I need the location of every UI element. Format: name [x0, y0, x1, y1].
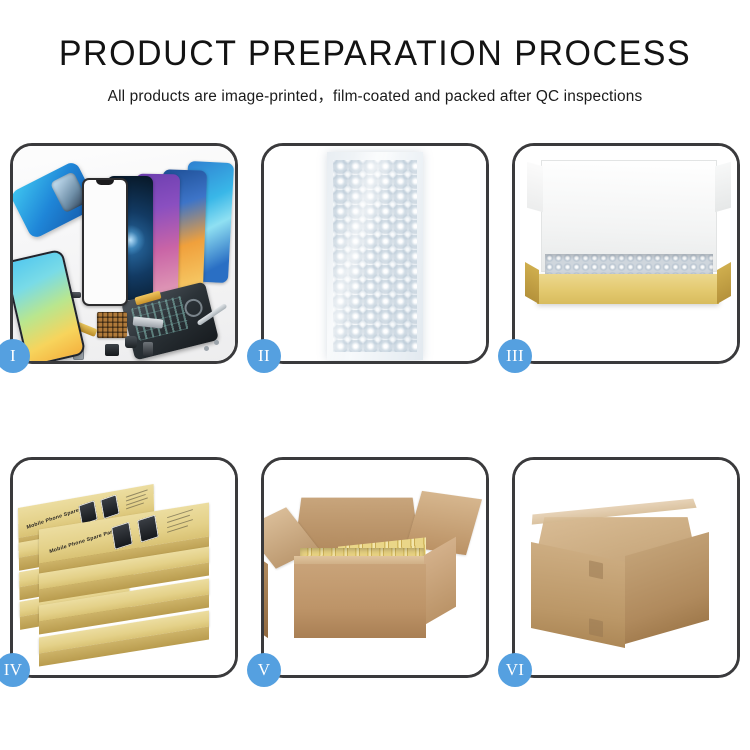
step-1-image — [13, 146, 235, 361]
step-2-image — [264, 146, 486, 361]
tempered-glass-screen — [82, 178, 128, 306]
screw-part-1 — [214, 340, 219, 345]
process-step-panel-2: II — [261, 143, 489, 364]
step-badge-2: II — [247, 339, 281, 373]
step-badge-4: IV — [0, 653, 30, 687]
mailer-box-scene — [515, 146, 737, 361]
screw-part-2 — [204, 346, 209, 351]
plastic-sheen — [327, 152, 423, 360]
step-6-image — [515, 460, 737, 675]
carton-front-face — [294, 564, 426, 638]
process-step-panel-6: VI — [512, 457, 740, 678]
step-badge-1: I — [0, 339, 30, 373]
carton-marking-bottom — [589, 618, 603, 637]
phone-notch — [96, 180, 114, 185]
bubble-wrap-scene — [264, 146, 486, 361]
step-3-image — [515, 146, 737, 361]
header: PRODUCT PREPARATION PROCESS All products… — [0, 0, 750, 106]
loudspeaker-part — [105, 344, 119, 356]
mesh-grille-part — [97, 312, 127, 338]
carton-right-face — [424, 537, 456, 625]
retail-box-side — [39, 627, 209, 667]
bubble-wrapped-product — [327, 152, 423, 360]
page-subtitle: All products are image-printed，film-coat… — [0, 74, 750, 106]
carton-marking-top — [589, 560, 603, 579]
process-step-panel-3: III — [512, 143, 740, 364]
retail-box-stack-scene: Mobile Phone Spare Parts — [13, 460, 235, 675]
button-part — [143, 342, 153, 356]
products-scene — [13, 146, 235, 361]
process-step-panel-1: I — [10, 143, 238, 364]
process-step-panel-4: Mobile Phone Spare Parts — [10, 457, 238, 678]
mailer-box-front-panel — [537, 274, 719, 304]
box-phone-thumbnail-2 — [137, 515, 158, 543]
open-carton-scene — [264, 460, 486, 675]
retail-box-stack-front: Mobile Phone Spare Parts — [39, 516, 217, 666]
box-phone-thumbnail-1 — [111, 522, 132, 550]
page-title: PRODUCT PREPARATION PROCESS — [11, 0, 739, 74]
step-4-image: Mobile Phone Spare Parts — [13, 460, 235, 675]
step-badge-6: VI — [498, 653, 532, 687]
step-badge-5: V — [247, 653, 281, 687]
step-badge-3: III — [498, 339, 532, 373]
retail-box-label: Mobile Phone Spare Parts — [49, 528, 118, 555]
step-5-image — [264, 460, 486, 675]
process-step-grid: I II III — [10, 143, 740, 679]
camera-module-part — [125, 336, 137, 348]
sealed-carton-scene — [515, 460, 737, 675]
process-step-panel-5: V — [261, 457, 489, 678]
